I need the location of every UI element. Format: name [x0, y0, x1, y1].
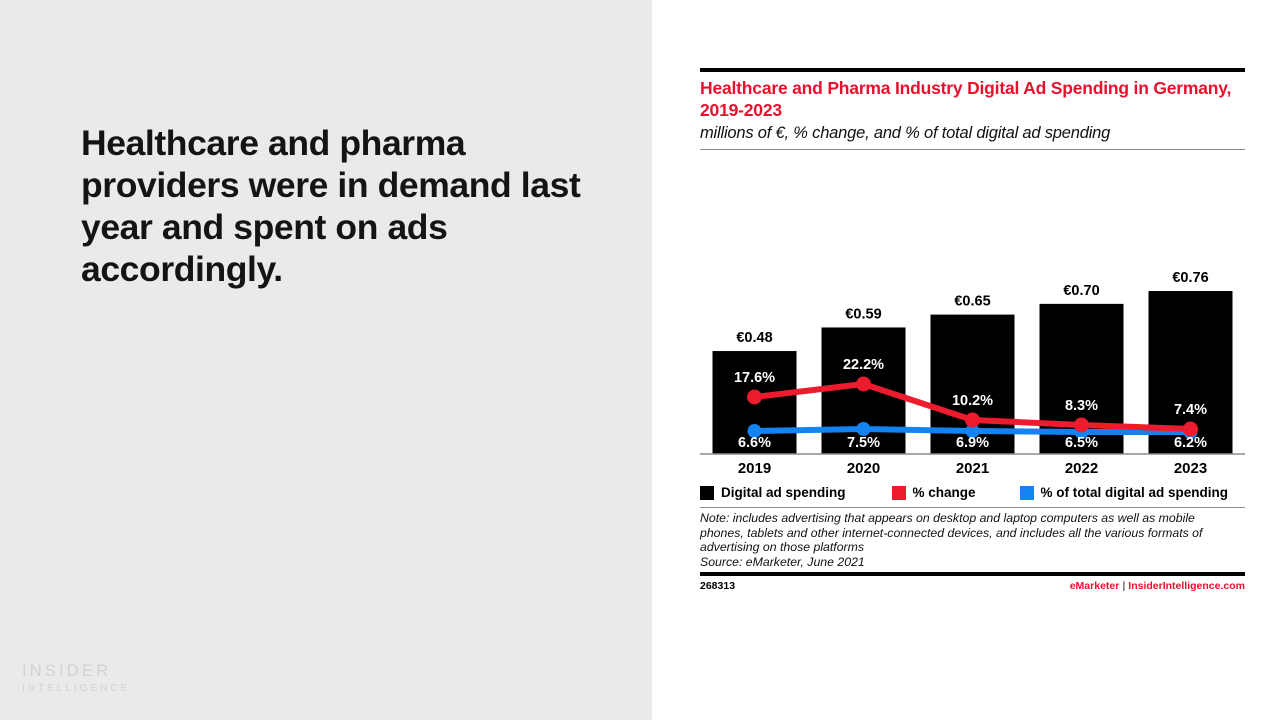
svg-text:2021: 2021: [956, 460, 989, 476]
svg-text:10.2%: 10.2%: [952, 393, 993, 409]
logo-secondary-text: INTELLIGENCE: [22, 682, 130, 696]
svg-text:€0.48: €0.48: [736, 330, 772, 346]
svg-text:6.6%: 6.6%: [738, 435, 771, 451]
svg-text:2020: 2020: [847, 460, 880, 476]
chart-title: Healthcare and Pharma Industry Digital A…: [700, 78, 1245, 121]
data-point-marker: [965, 413, 980, 428]
chart-subtitle: millions of €, % change, and % of total …: [700, 123, 1245, 144]
brand-attribution: eMarketer|InsiderIntelligence.com: [1070, 580, 1245, 592]
page-title: Healthcare and pharma providers were in …: [81, 122, 601, 290]
svg-text:€0.70: €0.70: [1063, 283, 1099, 299]
svg-text:€0.76: €0.76: [1172, 270, 1208, 286]
chart-legend: Digital ad spending % change % of total …: [700, 485, 1245, 500]
svg-text:17.6%: 17.6%: [734, 370, 775, 386]
brand-insiderintelligence[interactable]: InsiderIntelligence.com: [1128, 580, 1245, 592]
chart-footer: 268313 eMarketer|InsiderIntelligence.com: [700, 580, 1245, 592]
data-point-marker: [747, 390, 762, 405]
chart-id: 268313: [700, 580, 735, 592]
svg-text:8.3%: 8.3%: [1065, 398, 1098, 414]
note-line: phones, tablets and other internet-conne…: [700, 526, 1245, 541]
legend-swatch-blue-icon: [1020, 486, 1034, 500]
data-point-marker: [857, 422, 871, 436]
chart-svg: €0.48€0.59€0.65€0.70€0.76 17.6%22.2%10.2…: [700, 150, 1245, 476]
note-line: Note: includes advertising that appears …: [700, 511, 1245, 526]
svg-text:6.5%: 6.5%: [1065, 435, 1098, 451]
data-point-marker: [1074, 418, 1089, 433]
brand-emarketer: eMarketer: [1070, 580, 1120, 592]
svg-text:2023: 2023: [1174, 460, 1207, 476]
data-point-marker: [856, 377, 871, 392]
chart-notes: Note: includes advertising that appears …: [700, 508, 1245, 572]
logo-primary-text: INSIDER: [22, 661, 130, 681]
svg-text:€0.59: €0.59: [845, 306, 881, 322]
blue-line-value-labels: 6.6%7.5%6.9%6.5%6.2%: [738, 435, 1207, 451]
legend-label: % change: [913, 485, 976, 500]
svg-text:€0.65: €0.65: [954, 294, 990, 310]
legend-swatch-black-icon: [700, 486, 714, 500]
legend-label: % of total digital ad spending: [1041, 485, 1229, 500]
svg-text:7.5%: 7.5%: [847, 435, 880, 451]
note-line: advertising on those platforms: [700, 540, 1245, 555]
slide: Healthcare and pharma providers were in …: [0, 0, 1280, 720]
svg-text:7.4%: 7.4%: [1174, 402, 1207, 418]
footer-rule: [700, 572, 1245, 576]
source-line: Source: eMarketer, June 2021: [700, 555, 1245, 570]
legend-item-percent-of-total: % of total digital ad spending: [1020, 485, 1229, 500]
legend-item-digital-ad-spending: Digital ad spending: [700, 485, 846, 500]
brand-separator: |: [1119, 580, 1128, 592]
chart-plot-area: €0.48€0.59€0.65€0.70€0.76 17.6%22.2%10.2…: [700, 150, 1245, 476]
svg-text:2019: 2019: [738, 460, 771, 476]
svg-text:6.9%: 6.9%: [956, 435, 989, 451]
svg-text:2022: 2022: [1065, 460, 1098, 476]
legend-item-percent-change: % change: [892, 485, 976, 500]
chart-card: Healthcare and Pharma Industry Digital A…: [700, 68, 1245, 592]
insider-intelligence-logo: INSIDER INTELLIGENCE: [22, 661, 130, 696]
chart-top-rule: [700, 68, 1245, 72]
left-panel: Healthcare and pharma providers were in …: [0, 0, 652, 720]
svg-text:22.2%: 22.2%: [843, 357, 884, 373]
x-axis-tick-labels: 20192020202120222023: [738, 460, 1207, 476]
legend-label: Digital ad spending: [721, 485, 846, 500]
legend-swatch-red-icon: [892, 486, 906, 500]
svg-text:6.2%: 6.2%: [1174, 435, 1207, 451]
